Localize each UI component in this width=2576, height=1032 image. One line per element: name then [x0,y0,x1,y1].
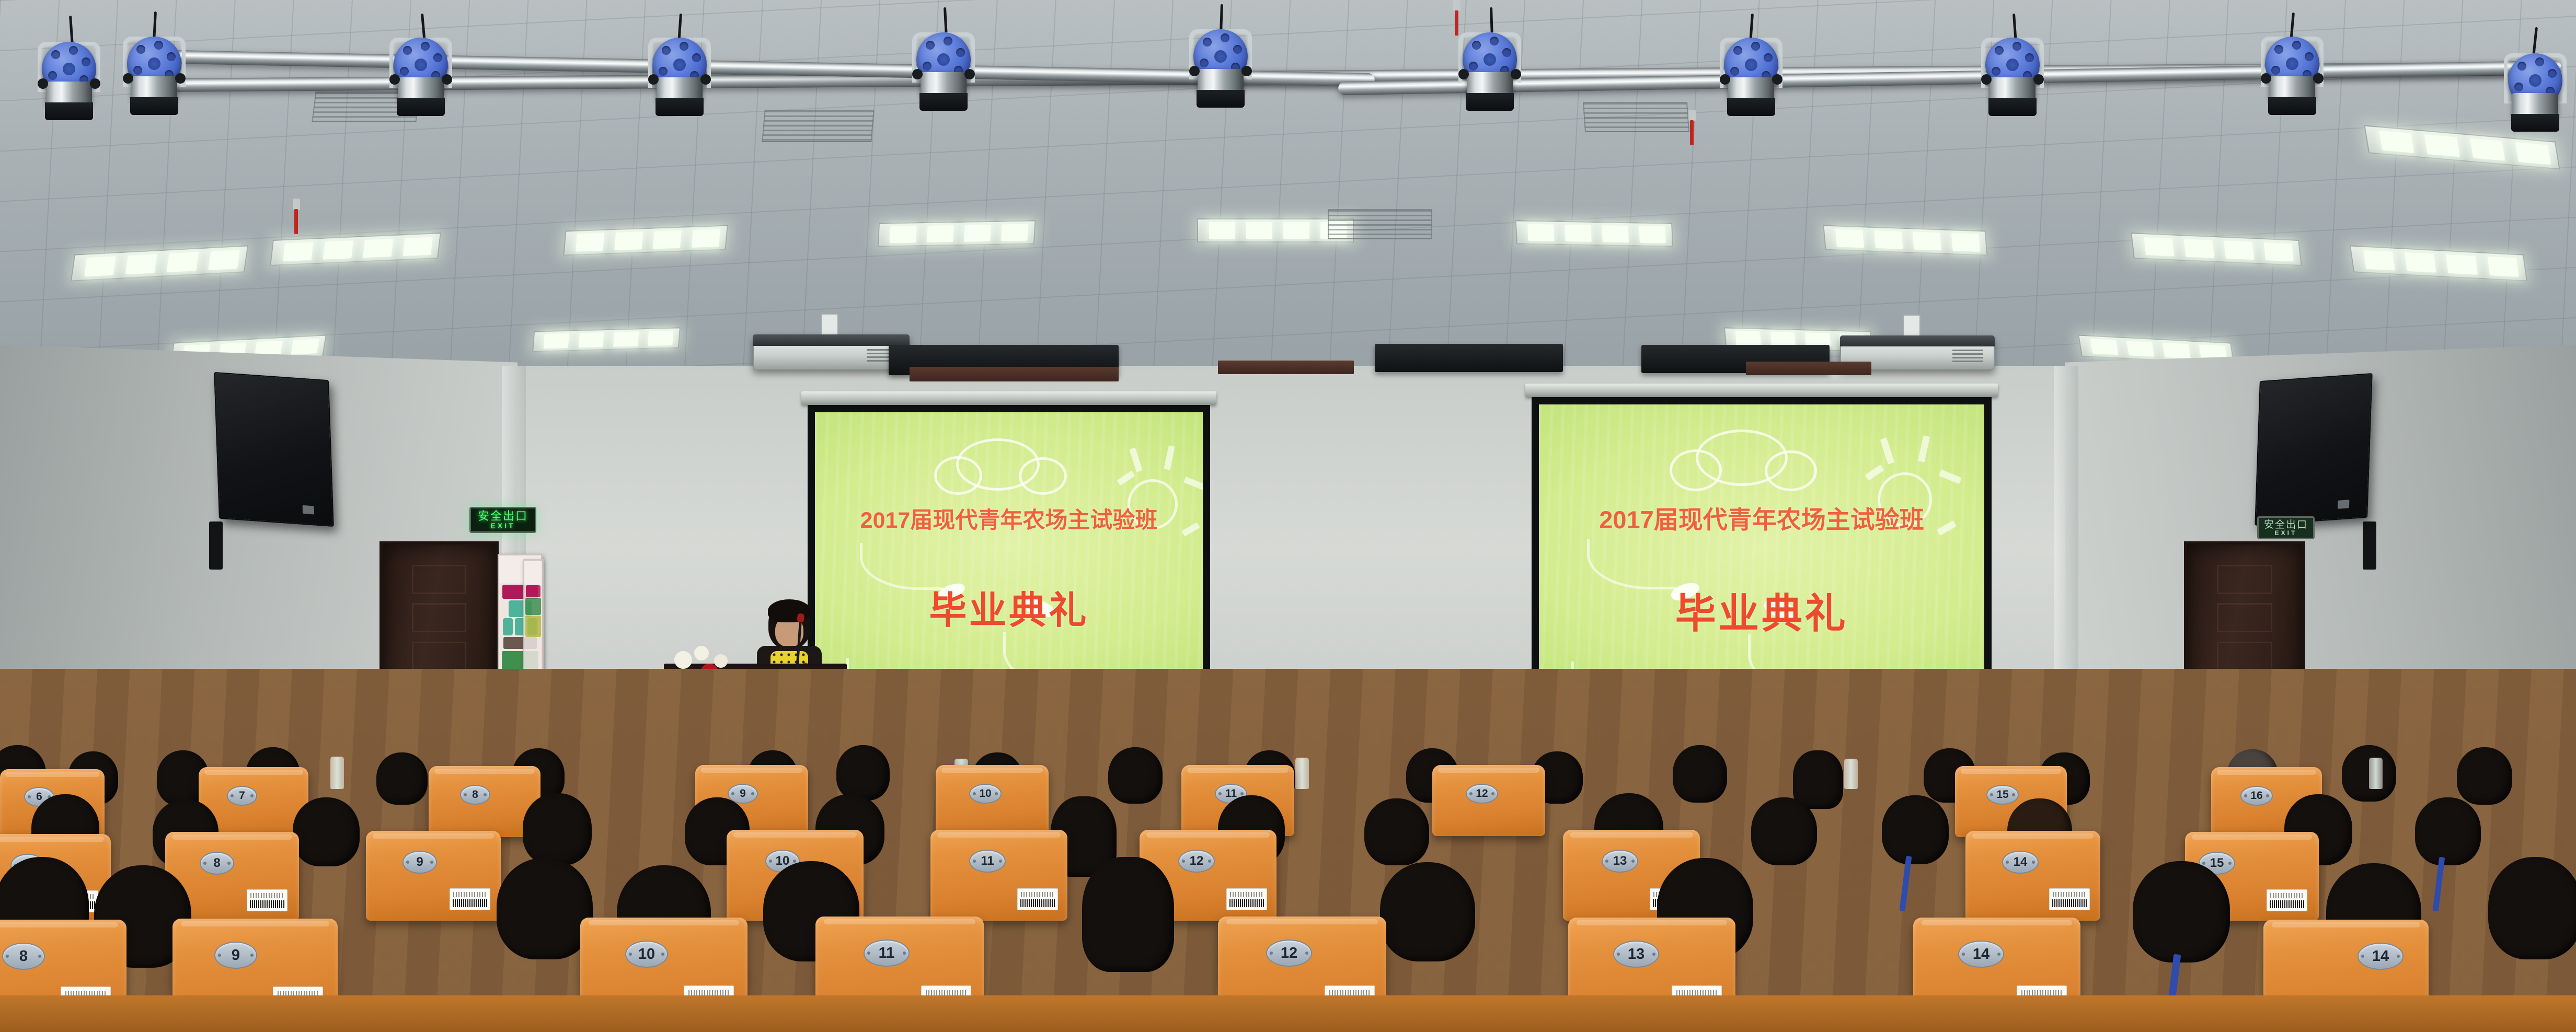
tilt-knob [2313,73,2324,84]
audience-head [1882,795,1949,864]
asset-barcode-label [1226,888,1267,910]
asset-barcode-label [450,888,490,910]
light-housing [2512,93,2558,116]
tilt-knob [90,78,100,89]
barn-door-icon [2511,114,2559,132]
barn-door-icon [2268,97,2316,115]
exit-sign-label-cn: 安全出口 [2264,520,2308,530]
door-panel [2217,603,2272,632]
barn-door-icon [397,98,445,116]
audience-head [836,745,890,801]
hvac-air-diffuser [1583,102,1689,132]
tilt-knob [964,69,975,79]
barn-door-icon [45,102,93,120]
seat-number-plate: 10 [969,784,1002,804]
seat-number-plate: 12 [1466,784,1498,804]
tilt-knob [389,74,400,85]
cloud-doodle-icon [934,456,982,495]
seat-number-plate: 8 [200,852,234,875]
ceiling-trim-panel [1218,361,1354,374]
seat[interactable]: 12 [1432,765,1545,836]
ceiling-light-troffer [878,220,1036,247]
tilt-knob [1720,74,1730,85]
door-panel [412,642,466,671]
barn-door-icon [655,98,704,116]
audience-head [376,752,428,805]
fire-sprinkler-icon [293,199,300,210]
hvac-air-diffuser [1328,209,1432,239]
exit-sign-right: 安全出口 EXIT [2257,516,2315,539]
seat-number-plate: 14 [2357,943,2403,970]
ceiling-light-troffer [1515,220,1674,247]
seat[interactable]: 11 [930,830,1067,921]
door-panel [2217,565,2272,594]
flower-white [694,646,709,660]
hvac-air-diffuser [762,110,874,142]
audience-head [2457,747,2512,805]
light-housing [1989,77,2035,100]
front-row-apron [0,995,2576,1032]
seat-number-plate: 14 [2002,851,2039,874]
light-housing [1198,69,1244,92]
asset-barcode-label [1017,888,1058,910]
ceiling-light-troffer [532,327,681,352]
screen-surface: 2017届现代青年农场主试验班 毕业典礼 2017年6月22日 [815,412,1203,711]
seat[interactable]: 9 [366,831,501,921]
seat-number-plate: 12 [1266,940,1312,967]
presenter-hair [768,599,811,622]
asset-barcode-label [2267,889,2307,911]
seat-number-plate: 13 [1602,850,1638,873]
fire-sprinkler-icon [1453,0,1460,11]
poster-bar [526,585,541,597]
water-bottle [2369,758,2383,789]
seat-number-plate: 8 [460,785,490,805]
asset-barcode-label [247,889,287,911]
seat[interactable]: 10 [936,765,1049,836]
audience-head [1751,797,1817,865]
ceiling [0,0,2576,397]
water-bottle [1295,758,1309,789]
flower-white [674,651,692,669]
seat-number-plate: 15 [1986,785,2019,805]
audience-head [2415,797,2481,865]
water-bottle [1844,759,1858,789]
light-housing [46,82,92,105]
light-housing [131,76,177,99]
tilt-knob [1241,66,1252,76]
cloud-doodle-icon [1019,457,1067,495]
tilt-knob [2033,74,2044,85]
seat-number-plate: 9 [402,851,437,874]
auditorium-photo: 安全出口 EXIT 安全出口 EXIT [0,0,2576,1032]
audience-head [1793,750,1843,809]
asset-barcode-label [2049,888,2090,910]
audience-head [1082,857,1174,972]
wall-speaker-left [214,372,334,527]
tilt-knob [1458,69,1469,79]
audience-head [497,858,593,959]
slide-title: 2017届现代青年农场主试验班 [1539,500,1984,536]
cloud-doodle-icon [1670,449,1722,491]
door-panel [412,565,466,594]
exit-sign-left: 安全出口 EXIT [469,507,536,533]
tilt-knob [912,69,923,79]
audience-head [1108,747,1163,804]
tilt-knob [2261,73,2271,84]
barn-door-icon [1988,98,2037,116]
seat-number-plate: 8 [2,943,45,970]
seat-number-plate: 11 [969,850,1006,873]
seat[interactable]: 14 [1965,831,2100,921]
seat-number-plate: 14 [1958,941,2004,968]
screen-roller-housing [1375,344,1563,372]
door-panel [2217,642,2272,671]
door-panel [412,603,466,632]
water-bottle [330,757,344,789]
cloud-doodle-icon [1765,450,1817,491]
projector-vent [1952,350,1983,363]
slide-heading: 毕业典礼 [1539,581,1984,640]
audience-seating: 6 7 8 9 10 11 12 15 16 [0,669,2576,1032]
audience-head [1673,745,1727,803]
tilt-knob [123,73,133,84]
audience-head [2133,861,2230,963]
audience-head [1380,862,1475,961]
speaker-mount-arm [209,521,223,570]
tilt-knob [1511,69,1521,79]
tilt-knob [700,74,711,85]
speaker-mount-arm [2363,521,2376,570]
ceiling-projector-left [753,334,910,370]
barn-door-icon [1727,98,1775,116]
poster-header [524,561,542,585]
exit-sign-label-cn: 安全出口 [478,511,528,522]
barn-door-icon [1466,93,1514,111]
screen-roller-bar [801,391,1216,405]
seat-number-plate: 10 [625,941,668,968]
audience-head [523,793,592,865]
slide-title: 2017届现代青年农场主试验班 [815,502,1203,535]
tilt-knob [648,74,659,85]
tilt-knob [442,74,452,85]
light-housing [1728,77,1774,100]
flower-white [714,654,728,668]
wall-speaker-right [2255,373,2373,526]
audience-head [293,797,360,866]
barn-door-icon [919,93,968,111]
ceiling-trim-panel [1746,362,1871,375]
barn-door-icon [1197,90,1245,108]
tilt-knob [1772,74,1782,85]
screen-roller-bar [1525,384,1998,397]
audience-head [1364,798,1429,865]
seat-number-plate: 7 [227,786,257,806]
ceiling-trim-panel [910,367,1119,381]
seat-number-plate: 16 [2240,786,2273,806]
seat-number-plate: 13 [1613,941,1659,968]
light-housing [657,77,703,100]
exit-sign-label-en: EXIT [490,522,515,529]
fire-sprinkler-icon [1688,110,1696,121]
light-housing [2269,76,2315,99]
audience-head [2488,857,2576,959]
slide-heading: 毕业典礼 [815,579,1203,634]
barn-door-icon [130,97,178,115]
poster-band-green [525,598,541,615]
seat-number-plate: 11 [864,940,910,967]
seat-number-plate: 9 [214,942,257,969]
light-housing [1467,72,1513,95]
light-housing [398,77,444,100]
tilt-knob [175,73,186,84]
tilt-knob [1981,74,1992,85]
tilt-knob [1189,66,1200,76]
seat-number-plate: 12 [1178,850,1215,873]
tilt-knob [38,78,48,89]
poster-band-yellow [525,616,541,637]
light-housing [921,72,967,95]
exit-sign-label-en: EXIT [2275,530,2297,536]
